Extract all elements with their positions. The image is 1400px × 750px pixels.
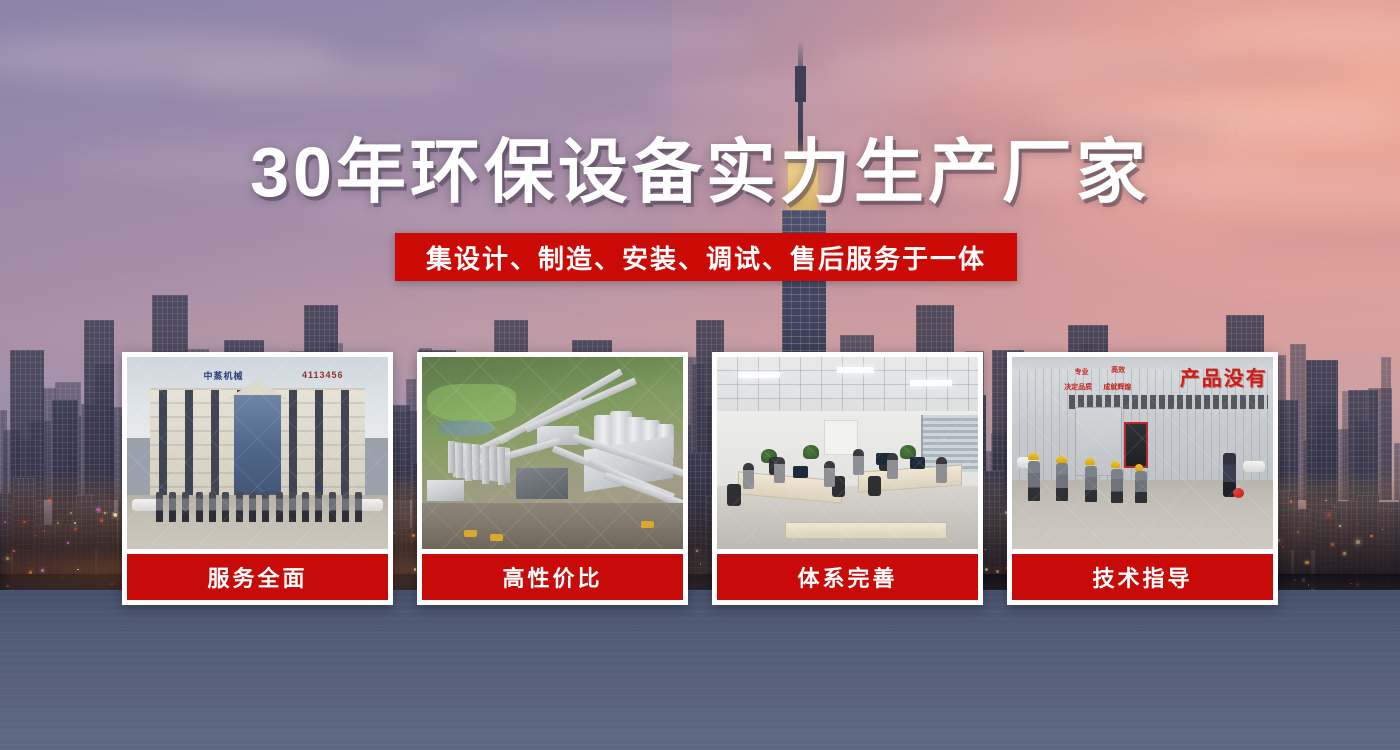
factory-slogan-3: 决定品质	[1064, 384, 1092, 392]
workers-training-factory-photo: 产品没有 专业 高效 决定品质 成就辉煌	[1012, 357, 1273, 549]
feature-card-label: 高性价比	[422, 554, 683, 600]
factory-slogan-2: 高效	[1111, 367, 1125, 375]
feature-card-training[interactable]: 产品没有 专业 高效 决定品质 成就辉煌 技术指导	[1007, 352, 1278, 605]
office-interior-staff-photo	[717, 357, 978, 549]
factory-slogan-1: 专业	[1075, 369, 1089, 377]
feature-card-list: 中蒸机械 4113456 服务全面	[122, 352, 1278, 605]
subtitle-banner: 集设计、制造、安装、调试、售后服务于一体	[395, 233, 1017, 281]
factory-slogan-4: 成就辉煌	[1103, 384, 1131, 392]
industrial-plant-aerial-photo	[422, 357, 683, 549]
building-sign-text: 中蒸机械	[195, 369, 252, 382]
feature-card-value[interactable]: 高性价比	[417, 352, 688, 605]
subtitle-text: 集设计、制造、安装、调试、售后服务于一体	[426, 239, 986, 276]
river-water	[0, 590, 1400, 750]
page-title: 30年环保设备实力生产厂家	[0, 134, 1400, 210]
factory-wall-slogan: 产品没有	[1148, 361, 1268, 392]
feature-card-label: 服务全面	[127, 554, 388, 600]
feature-card-label: 体系完善	[717, 554, 978, 600]
feature-card-service[interactable]: 中蒸机械 4113456 服务全面	[122, 352, 393, 605]
promo-banner: 30年环保设备实力生产厂家 集设计、制造、安装、调试、售后服务于一体 中蒸机械 …	[0, 0, 1400, 750]
feature-card-system[interactable]: 体系完善	[712, 352, 983, 605]
building-phone-text: 4113456	[289, 369, 357, 382]
company-headquarters-building-photo: 中蒸机械 4113456	[127, 357, 388, 549]
feature-card-label: 技术指导	[1012, 554, 1273, 600]
